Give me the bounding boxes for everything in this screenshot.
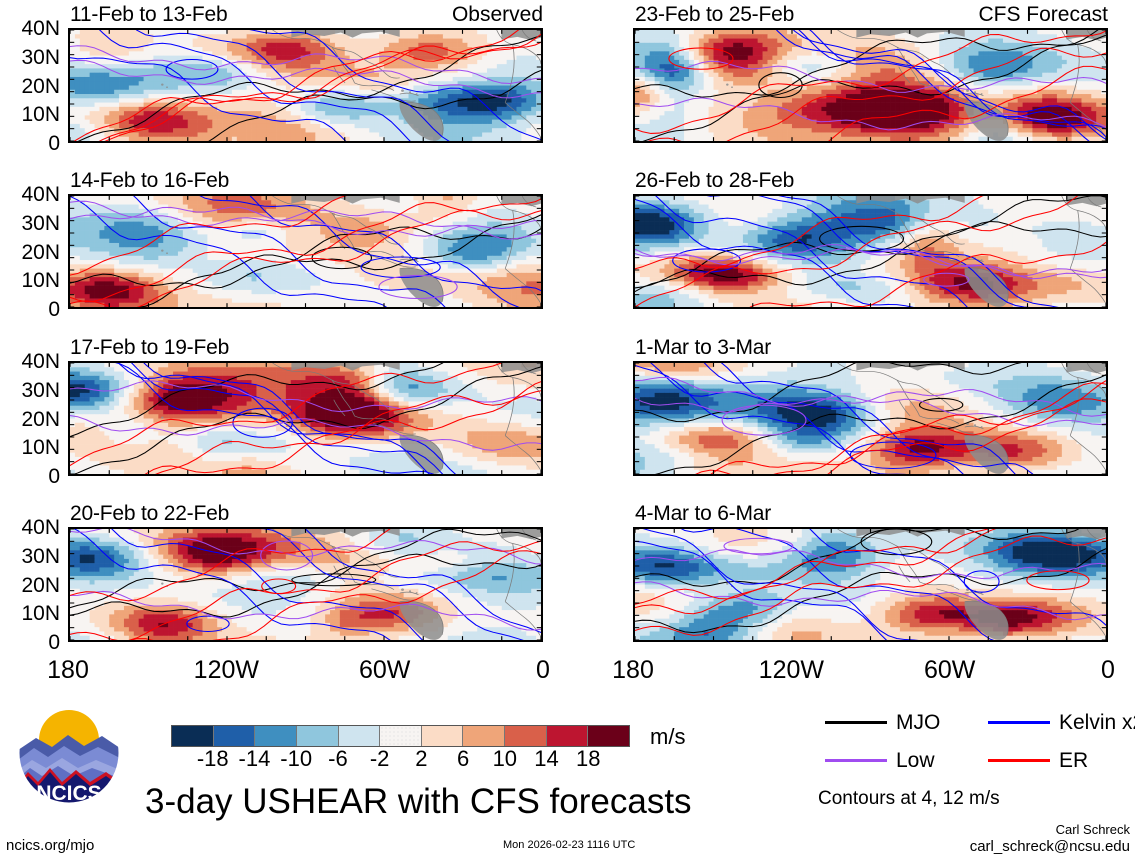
colorbar-tick-label: -10 (280, 748, 312, 770)
column-header: CFS Forecast (978, 4, 1108, 25)
y-tick-label: 30N (2, 47, 60, 68)
legend-item-low: Low (825, 750, 935, 771)
shaded-field (70, 363, 541, 474)
panel-26-feb-to-28-feb: 26-Feb to 28-Feb (633, 194, 1108, 309)
panel-23-feb-to-25-feb: 23-Feb to 25-FebCFS Forecast (633, 28, 1108, 143)
ncics-logo: NCICS (18, 702, 120, 804)
panel-title: 26-Feb to 28-Feb (635, 170, 794, 191)
colorbar-segment (339, 726, 381, 746)
figure-canvas: 40N30N20N10N040N30N20N10N040N30N20N10N04… (0, 0, 1135, 859)
colorbar-tick-label: 2 (415, 748, 427, 770)
y-tick-label: 20N (2, 409, 60, 430)
filled-contours (635, 363, 1106, 474)
colorbar-segment (463, 726, 505, 746)
panel-4-mar-to-6-mar: 4-Mar to 6-Mar (633, 527, 1108, 642)
column-header: Observed (452, 4, 543, 25)
y-tick-label: 20N (2, 242, 60, 263)
colorbar-tick-label: -6 (328, 748, 348, 770)
contour-legend: MJOKelvin x2LowER (825, 712, 1125, 774)
y-tick-label: 10N (2, 270, 60, 291)
filled-contours (635, 30, 1106, 141)
y-tick-label: 0 (2, 299, 60, 320)
shaded-field (635, 196, 1106, 307)
panel-title: 17-Feb to 19-Feb (70, 337, 229, 358)
x-tick-label: 180 (583, 658, 683, 683)
author-name: Carl Schreck (1056, 822, 1130, 837)
panel-1-mar-to-3-mar: 1-Mar to 3-Mar (633, 361, 1108, 476)
colorbar-tick-label: 6 (457, 748, 469, 770)
colorbar-tick-label: -14 (239, 748, 271, 770)
x-tick-label: 180 (18, 658, 118, 683)
y-tick-label: 0 (2, 133, 60, 154)
y-tick-label: 30N (2, 546, 60, 567)
page-title: 3-day USHEAR with CFS forecasts (145, 783, 692, 821)
panel-14-feb-to-16-feb: 14-Feb to 16-Feb (68, 194, 543, 309)
colorbar-segment (255, 726, 297, 746)
legend-item-er: ER (988, 750, 1088, 771)
colorbar-segment (297, 726, 339, 746)
panel-title: 23-Feb to 25-Feb (635, 4, 794, 25)
y-tick-label: 10N (2, 437, 60, 458)
colorbar-segment (172, 726, 214, 746)
x-tick-label: 0 (1058, 658, 1135, 683)
author-email: carl_schreck@ncsu.edu (970, 839, 1130, 855)
colorbar-segment (547, 726, 589, 746)
panel-11-feb-to-13-feb: 11-Feb to 13-FebObserved (68, 28, 543, 143)
panel-title: 20-Feb to 22-Feb (70, 503, 229, 524)
legend-label: Kelvin x2 (1059, 712, 1135, 733)
y-tick-label: 10N (2, 603, 60, 624)
x-tick-label: 120W (741, 658, 841, 683)
legend-label: MJO (896, 712, 940, 733)
y-tick-label: 30N (2, 213, 60, 234)
colorbar-tick-label: 14 (534, 748, 558, 770)
shaded-field (635, 30, 1106, 141)
y-tick-label: 30N (2, 380, 60, 401)
y-tick-label: 0 (2, 466, 60, 487)
map-plot-area (633, 361, 1108, 476)
shaded-field (635, 363, 1106, 474)
colorbar-segment (422, 726, 464, 746)
colorbar-segment (505, 726, 547, 746)
shaded-field (70, 529, 541, 640)
legend-line-swatch (988, 759, 1050, 762)
map-plot-area (633, 28, 1108, 143)
legend-item-mjo: MJO (825, 712, 940, 733)
colorbar-tick-labels: -18-14-10-6-226101418 (171, 748, 630, 774)
colorbar-segment (588, 726, 629, 746)
legend-line-swatch (988, 721, 1050, 724)
map-plot-area (68, 527, 543, 642)
panel-17-feb-to-19-feb: 17-Feb to 19-Feb (68, 361, 543, 476)
map-plot-area (633, 194, 1108, 309)
shaded-field (635, 529, 1106, 640)
colorbar-tick-label: -18 (197, 748, 229, 770)
x-tick-label: 60W (335, 658, 435, 683)
y-tick-label: 40N (2, 18, 60, 39)
panel-20-feb-to-22-feb: 20-Feb to 22-Feb (68, 527, 543, 642)
legend-line-swatch (825, 721, 887, 724)
colorbar-tick-label: -2 (370, 748, 390, 770)
colorbar (171, 725, 630, 747)
shaded-field (70, 196, 541, 307)
footer-timestamp: Mon 2026-02-23 1116 UTC (503, 840, 635, 851)
colorbar-units-label: m/s (650, 726, 685, 748)
y-tick-label: 40N (2, 184, 60, 205)
x-tick-label: 120W (176, 658, 276, 683)
map-plot-area (68, 28, 543, 143)
y-tick-label: 0 (2, 632, 60, 653)
panel-title: 11-Feb to 13-Feb (70, 4, 228, 25)
legend-label: ER (1059, 750, 1088, 771)
colorbar-segment (380, 726, 422, 746)
logo-text: NCICS (36, 782, 101, 804)
colorbar-segment (214, 726, 256, 746)
map-plot-area (68, 194, 543, 309)
legend-item-kelvin-x2: Kelvin x2 (988, 712, 1135, 733)
footer-website: ncics.org/mjo (6, 838, 94, 853)
y-tick-label: 40N (2, 351, 60, 372)
y-tick-label: 20N (2, 575, 60, 596)
panel-title: 1-Mar to 3-Mar (635, 337, 771, 358)
y-tick-label: 10N (2, 104, 60, 125)
colorbar-tick-label: 10 (493, 748, 517, 770)
map-plot-area (633, 527, 1108, 642)
map-plot-area (68, 361, 543, 476)
legend-label: Low (896, 750, 935, 771)
contour-note: Contours at 4, 12 m/s (818, 789, 1000, 808)
legend-line-swatch (825, 759, 887, 762)
shaded-field (70, 30, 541, 141)
x-tick-label: 0 (493, 658, 593, 683)
x-tick-label: 60W (900, 658, 1000, 683)
panel-title: 4-Mar to 6-Mar (635, 503, 771, 524)
panel-title: 14-Feb to 16-Feb (70, 170, 229, 191)
colorbar-tick-label: 18 (576, 748, 600, 770)
y-tick-label: 20N (2, 76, 60, 97)
y-tick-label: 40N (2, 517, 60, 538)
